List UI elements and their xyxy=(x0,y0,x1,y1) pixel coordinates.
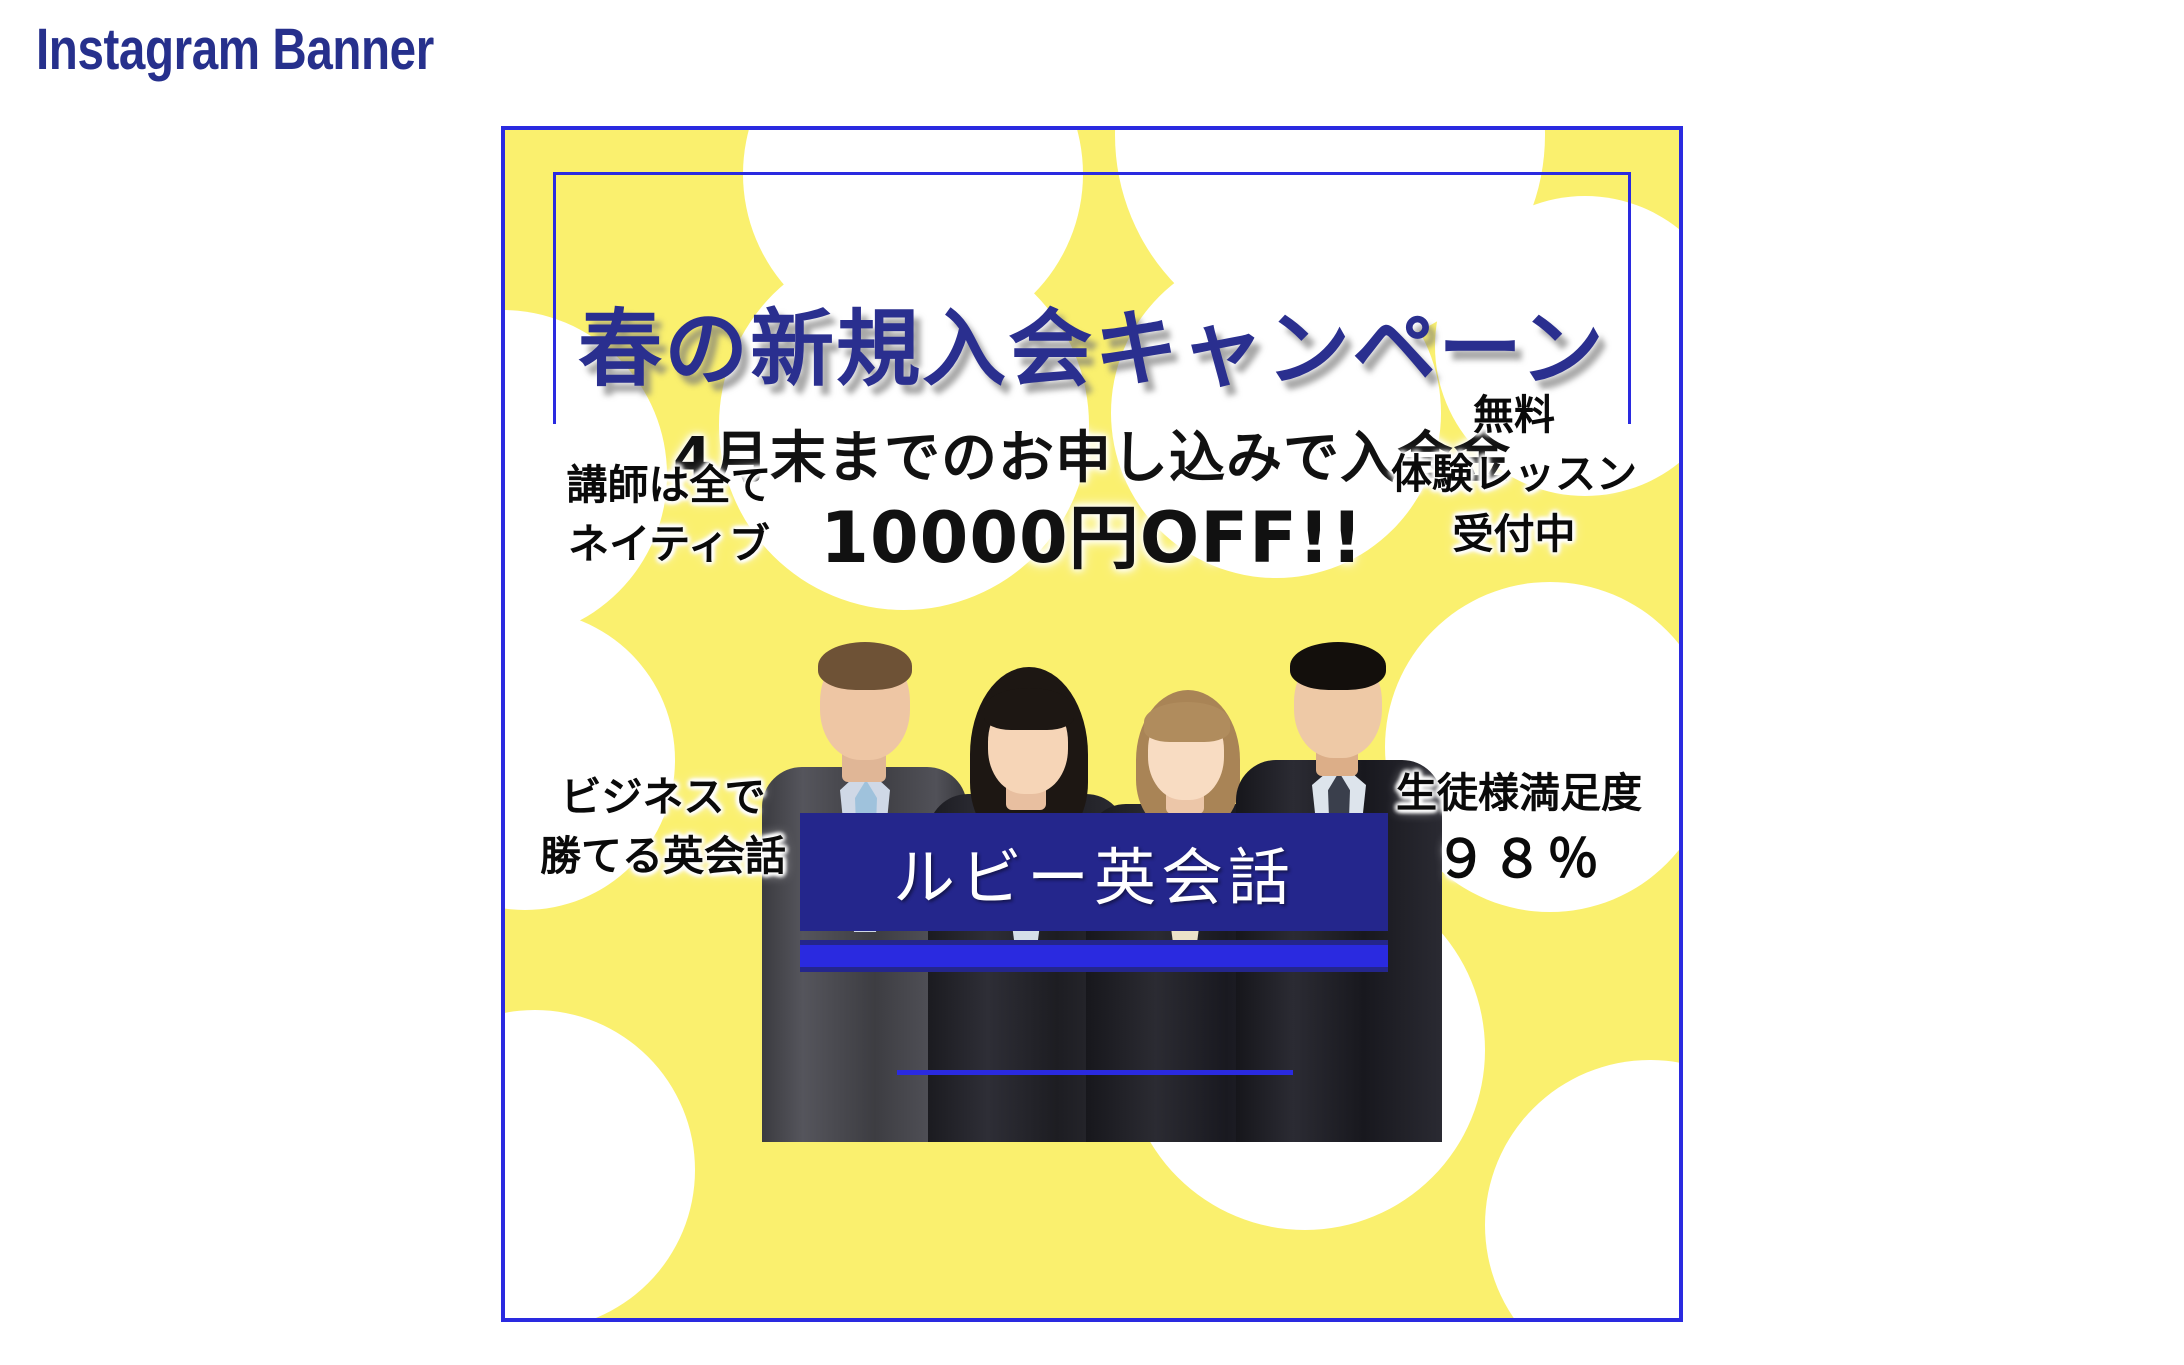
instagram-banner: 春の新規入会キャンペーン 4月末までのお申し込みで入会金 10000円OFF!! xyxy=(501,126,1683,1322)
badge-free-trial: 無料 体験レッスン 受付中 xyxy=(1359,386,1669,564)
bangs xyxy=(984,688,1074,730)
logo-text: ルビー英会話 xyxy=(893,827,1295,917)
logo-underbar xyxy=(800,940,1388,972)
bangs xyxy=(1144,702,1230,742)
decorative-circle xyxy=(501,1010,695,1322)
badge-line: 生徒様満足度 xyxy=(1369,764,1669,823)
badge-line: ネイティブ xyxy=(519,515,819,574)
badge-line: ビジネスで xyxy=(513,768,813,827)
hair xyxy=(818,642,912,690)
badge-line: 勝てる英会話 xyxy=(513,827,813,886)
badge-line: 無料 xyxy=(1359,386,1669,445)
hair xyxy=(1290,642,1386,690)
bottom-rule xyxy=(897,1070,1293,1075)
satisfaction-value: ９８％ xyxy=(1369,823,1669,898)
badge-satisfaction: 生徒様満足度 ９８％ xyxy=(1369,764,1669,899)
badge-business-english: ビジネスで 勝てる英会話 xyxy=(513,768,813,887)
badge-line: 講師は全て xyxy=(519,456,819,515)
badge-line: 受付中 xyxy=(1359,505,1669,564)
badge-line: 体験レッスン xyxy=(1359,445,1669,504)
logo-plate: ルビー英会話 xyxy=(800,813,1388,931)
headline: 春の新規入会キャンペーン xyxy=(505,282,1679,403)
badge-native-teachers: 講師は全て ネイティブ xyxy=(519,456,819,575)
decorative-circle xyxy=(1485,1060,1683,1322)
page-title: Instagram Banner xyxy=(36,16,434,83)
